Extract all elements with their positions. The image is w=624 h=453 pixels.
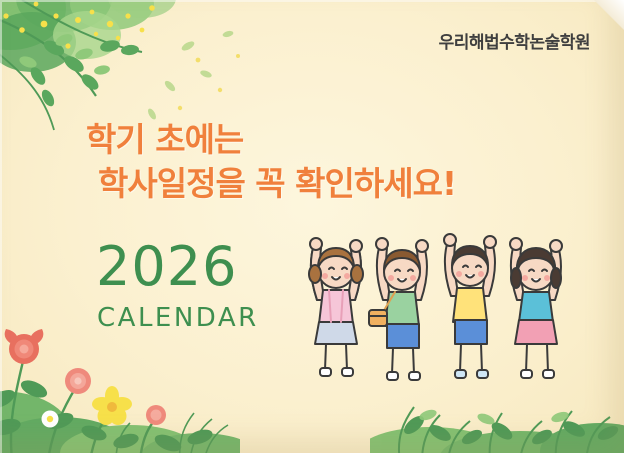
headline-text: 학기 초에는 학사일정을 꼭 확인하세요! [86, 118, 546, 205]
academy-name: 우리해법수학논술학원 [439, 28, 590, 53]
four-children-cheering-illustration [295, 222, 585, 407]
calendar-poster: 우리해법수학논술학원 학기 초에는 학사일정을 꼭 확인하세요! 2026 CA… [0, 0, 624, 453]
headline-line-2: 학사일정을 꼭 확인하세요! [98, 162, 546, 206]
headline-line-1: 학기 초에는 [86, 120, 243, 159]
calendar-word: CALENDAR [97, 305, 259, 331]
calendar-year: 2026 [96, 240, 237, 294]
